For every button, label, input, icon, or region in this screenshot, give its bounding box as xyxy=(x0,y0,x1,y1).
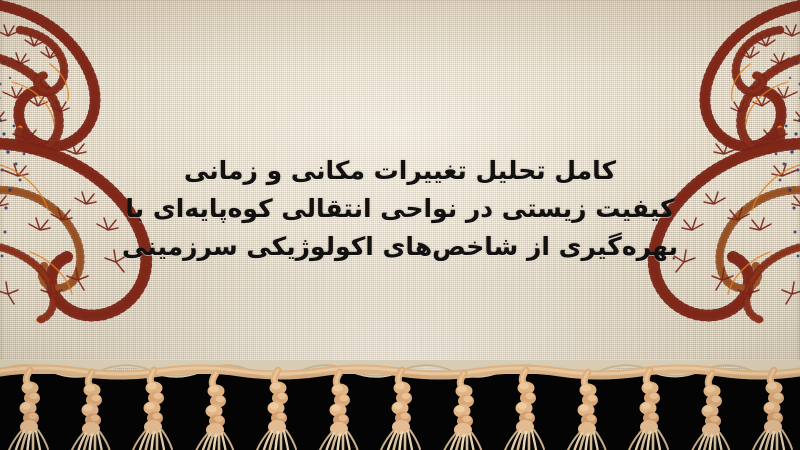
page-title: کامل تحلیل تغییرات مکانی و زمانی کیفیت ز… xyxy=(0,152,800,266)
title-line-2: کیفیت زیستی در نواحی انتقالی کوه‌پایه‌ای… xyxy=(0,190,800,228)
title-line-1: کامل تحلیل تغییرات مکانی و زمانی xyxy=(0,152,800,190)
title-card-stage: کامل تحلیل تغییرات مکانی و زمانی کیفیت ز… xyxy=(0,0,800,450)
title-line-3: بهره‌گیری از شاخص‌های اکولوژیکی سرزمینی xyxy=(0,228,800,266)
